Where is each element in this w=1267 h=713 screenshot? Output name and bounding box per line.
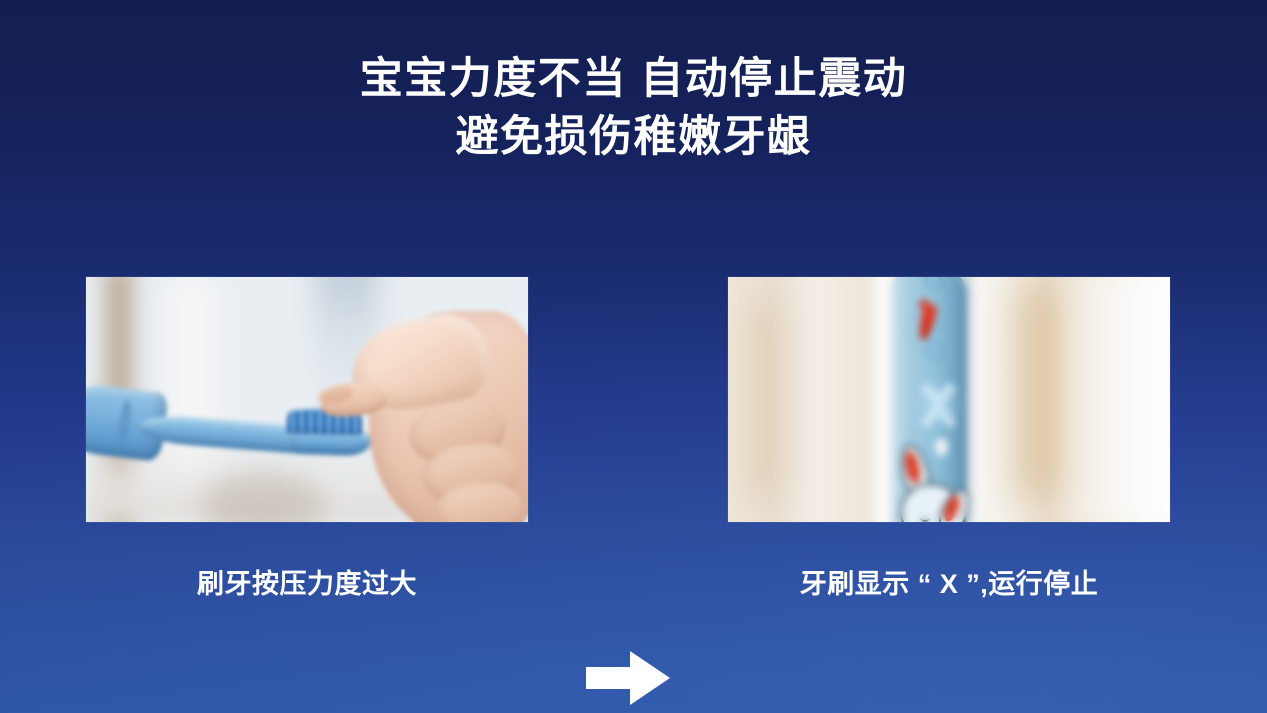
decor-dot-1: [911, 316, 913, 318]
led-dot: [924, 386, 930, 392]
background-white-wall: [1064, 277, 1170, 522]
led-dot: [941, 411, 947, 417]
decor-dot-4: [939, 328, 941, 330]
bunny-nose: [920, 512, 930, 522]
photo-before: [86, 277, 528, 522]
headline-line-1: 宝宝力度不当 自动停止震动: [0, 50, 1267, 108]
slide-canvas: 宝宝力度不当 自动停止震动 避免损伤稚嫩牙龈: [0, 0, 1267, 713]
caption-after: 牙刷显示 “ X ”,运行停止: [728, 562, 1170, 601]
headline-line-2: 避免损伤稚嫩牙龈: [0, 108, 1267, 166]
transition-arrow: [586, 651, 670, 705]
decor-dot-2: [908, 331, 910, 333]
caption-before: 刷牙按压力度过大: [86, 562, 528, 601]
comparison-row: [0, 277, 1267, 527]
photo-before-scene: [86, 277, 528, 522]
headline-block: 宝宝力度不当 自动停止震动 避免损伤稚嫩牙龈: [0, 50, 1267, 166]
arrow-right-icon: [586, 651, 670, 705]
decor-dot-3: [923, 351, 925, 353]
photo-after-scene: [728, 277, 1170, 522]
background-warm-band-left: [737, 302, 790, 498]
led-dot: [930, 411, 936, 417]
led-x-display: [922, 385, 955, 424]
brush-handle-highlight: [876, 277, 894, 522]
background-warm-band-right: [1002, 287, 1073, 498]
photo-after: [728, 277, 1170, 522]
led-dot: [947, 386, 953, 392]
